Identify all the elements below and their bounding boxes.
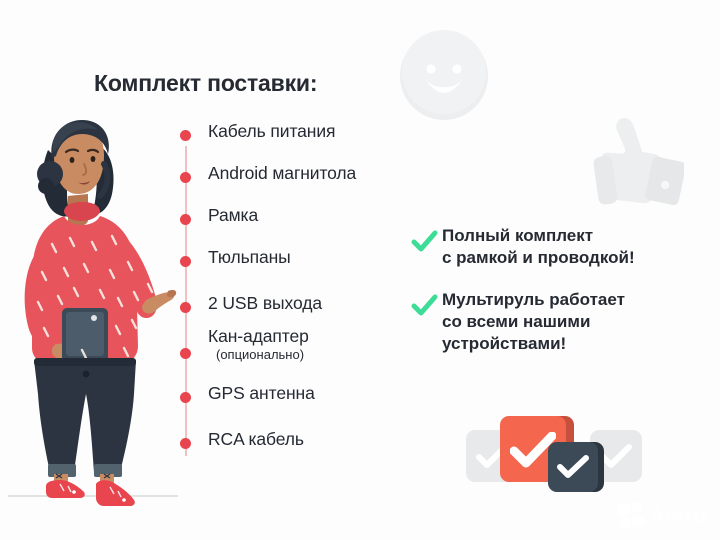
thumbs-up-icon [572, 112, 684, 218]
kit-list-track [185, 146, 187, 456]
bullet-dot [180, 214, 191, 225]
highlight-text: Полный комплект с рамкой и проводкой! [442, 225, 635, 269]
list-item-label: Кабель питания [208, 121, 335, 142]
list-item-sublabel: (опционально) [216, 347, 304, 362]
check-icon [600, 444, 632, 470]
bullet-dot [180, 256, 191, 267]
avito-wordmark: Avito [648, 503, 707, 530]
list-item-label: Тюльпаны [208, 247, 291, 268]
bullet-dot [180, 130, 191, 141]
avito-logo: Avito [616, 498, 712, 532]
page-title: Комплект поставки: [94, 70, 317, 97]
checkbox-cards-graphic [458, 412, 648, 492]
highlight-text: Мультируль работает со всеми нашими устр… [442, 289, 625, 355]
list-item-label: 2 USB выхода [208, 293, 322, 314]
list-item-label: GPS антенна [208, 383, 315, 404]
green-check-icon [410, 292, 438, 320]
list-item-label: Кан-адаптер [208, 326, 309, 347]
bullet-dot [180, 438, 191, 449]
highlight-line: с рамкой и проводкой! [442, 247, 635, 269]
woman-pointing-illustration [8, 112, 178, 512]
list-item-label: Рамка [208, 205, 258, 226]
highlight-line: со всеми нашими [442, 311, 625, 333]
check-icon [557, 455, 589, 481]
list-item-label: Android магнитола [208, 163, 356, 184]
list-item-label: RCA кабель [208, 429, 304, 450]
bullet-dot [180, 302, 191, 313]
bullet-dot [180, 172, 191, 183]
green-check-icon [410, 228, 438, 256]
bullet-dot [180, 392, 191, 403]
promo-canvas: Avito [0, 0, 720, 540]
bullet-dot [180, 348, 191, 359]
smiley-face-icon [398, 30, 490, 122]
highlight-line: Мультируль работает [442, 289, 625, 311]
highlight-line: Полный комплект [442, 225, 635, 247]
highlight-line: устройствами! [442, 333, 625, 355]
